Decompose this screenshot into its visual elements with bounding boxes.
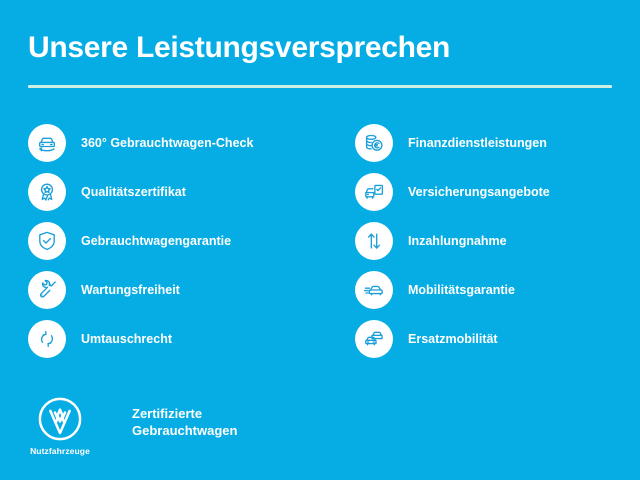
shield-check-icon bbox=[28, 222, 66, 260]
car-document-icon bbox=[355, 173, 393, 211]
slide-root: Unsere Leistungsversprechen 360° Gebrauc… bbox=[0, 0, 640, 480]
brand-text: Zertifizierte Gebrauchtwagen bbox=[132, 405, 237, 439]
promise-label: Versicherungsangebote bbox=[408, 184, 550, 200]
promise-label: Finanzdienstleistungen bbox=[408, 135, 547, 151]
coins-euro-icon bbox=[355, 124, 393, 162]
promise-label: Qualitätszertifikat bbox=[81, 184, 186, 200]
promise-item-inzahlungnahme[interactable]: Inzahlungnahme bbox=[355, 216, 625, 265]
title-divider bbox=[28, 85, 612, 88]
quality-rosette-icon bbox=[28, 173, 66, 211]
promise-item-gebrauchtwagengarantie[interactable]: Gebrauchtwagengarantie bbox=[28, 216, 328, 265]
brand-text-line1: Zertifizierte bbox=[132, 405, 237, 422]
exchange-arrows-icon bbox=[28, 320, 66, 358]
promise-item-qualitaetszertifikat[interactable]: Qualitätszertifikat bbox=[28, 167, 328, 216]
promise-label: 360° Gebrauchtwagen-Check bbox=[81, 135, 253, 151]
two-cars-icon bbox=[355, 320, 393, 358]
promise-label: Inzahlungnahme bbox=[408, 233, 507, 249]
car-360-check-icon bbox=[28, 124, 66, 162]
promise-item-versicherungsangebote[interactable]: Versicherungsangebote bbox=[355, 167, 625, 216]
promise-item-finanzdienstleistungen[interactable]: Finanzdienstleistungen bbox=[355, 118, 625, 167]
up-down-arrows-icon bbox=[355, 222, 393, 260]
brand-lockup: Nutzfahrzeuge Zertifizierte Gebrauchtwag… bbox=[28, 396, 237, 456]
wrench-check-icon bbox=[28, 271, 66, 309]
promise-item-umtauschrecht[interactable]: Umtauschrecht bbox=[28, 314, 328, 363]
promise-item-gebrauchtwagen-check[interactable]: 360° Gebrauchtwagen-Check bbox=[28, 118, 328, 167]
promise-item-wartungsfreiheit[interactable]: Wartungsfreiheit bbox=[28, 265, 328, 314]
brand-text-line2: Gebrauchtwagen bbox=[132, 422, 237, 439]
page-title: Unsere Leistungsversprechen bbox=[28, 30, 612, 66]
promise-label: Ersatzmobilität bbox=[408, 331, 498, 347]
promises-container: 360° Gebrauchtwagen-Check Qualitätszerti… bbox=[0, 118, 640, 363]
promise-item-mobilitaetsgarantie[interactable]: Mobilitätsgarantie bbox=[355, 265, 625, 314]
promise-label: Wartungsfreiheit bbox=[81, 282, 180, 298]
promise-item-ersatzmobilitaet[interactable]: Ersatzmobilität bbox=[355, 314, 625, 363]
promises-column-right: Finanzdienstleistungen Versicherungsange… bbox=[355, 118, 625, 363]
car-motion-icon bbox=[355, 271, 393, 309]
promises-column-left: 360° Gebrauchtwagen-Check Qualitätszerti… bbox=[28, 118, 328, 363]
brand-mark: Nutzfahrzeuge bbox=[28, 396, 92, 456]
promise-label: Umtauschrecht bbox=[81, 331, 172, 347]
promise-label: Gebrauchtwagengarantie bbox=[81, 233, 231, 249]
promise-label: Mobilitätsgarantie bbox=[408, 282, 515, 298]
header: Unsere Leistungsversprechen bbox=[28, 30, 612, 88]
vw-logo bbox=[37, 396, 83, 442]
brand-sub-label: Nutzfahrzeuge bbox=[30, 446, 90, 456]
